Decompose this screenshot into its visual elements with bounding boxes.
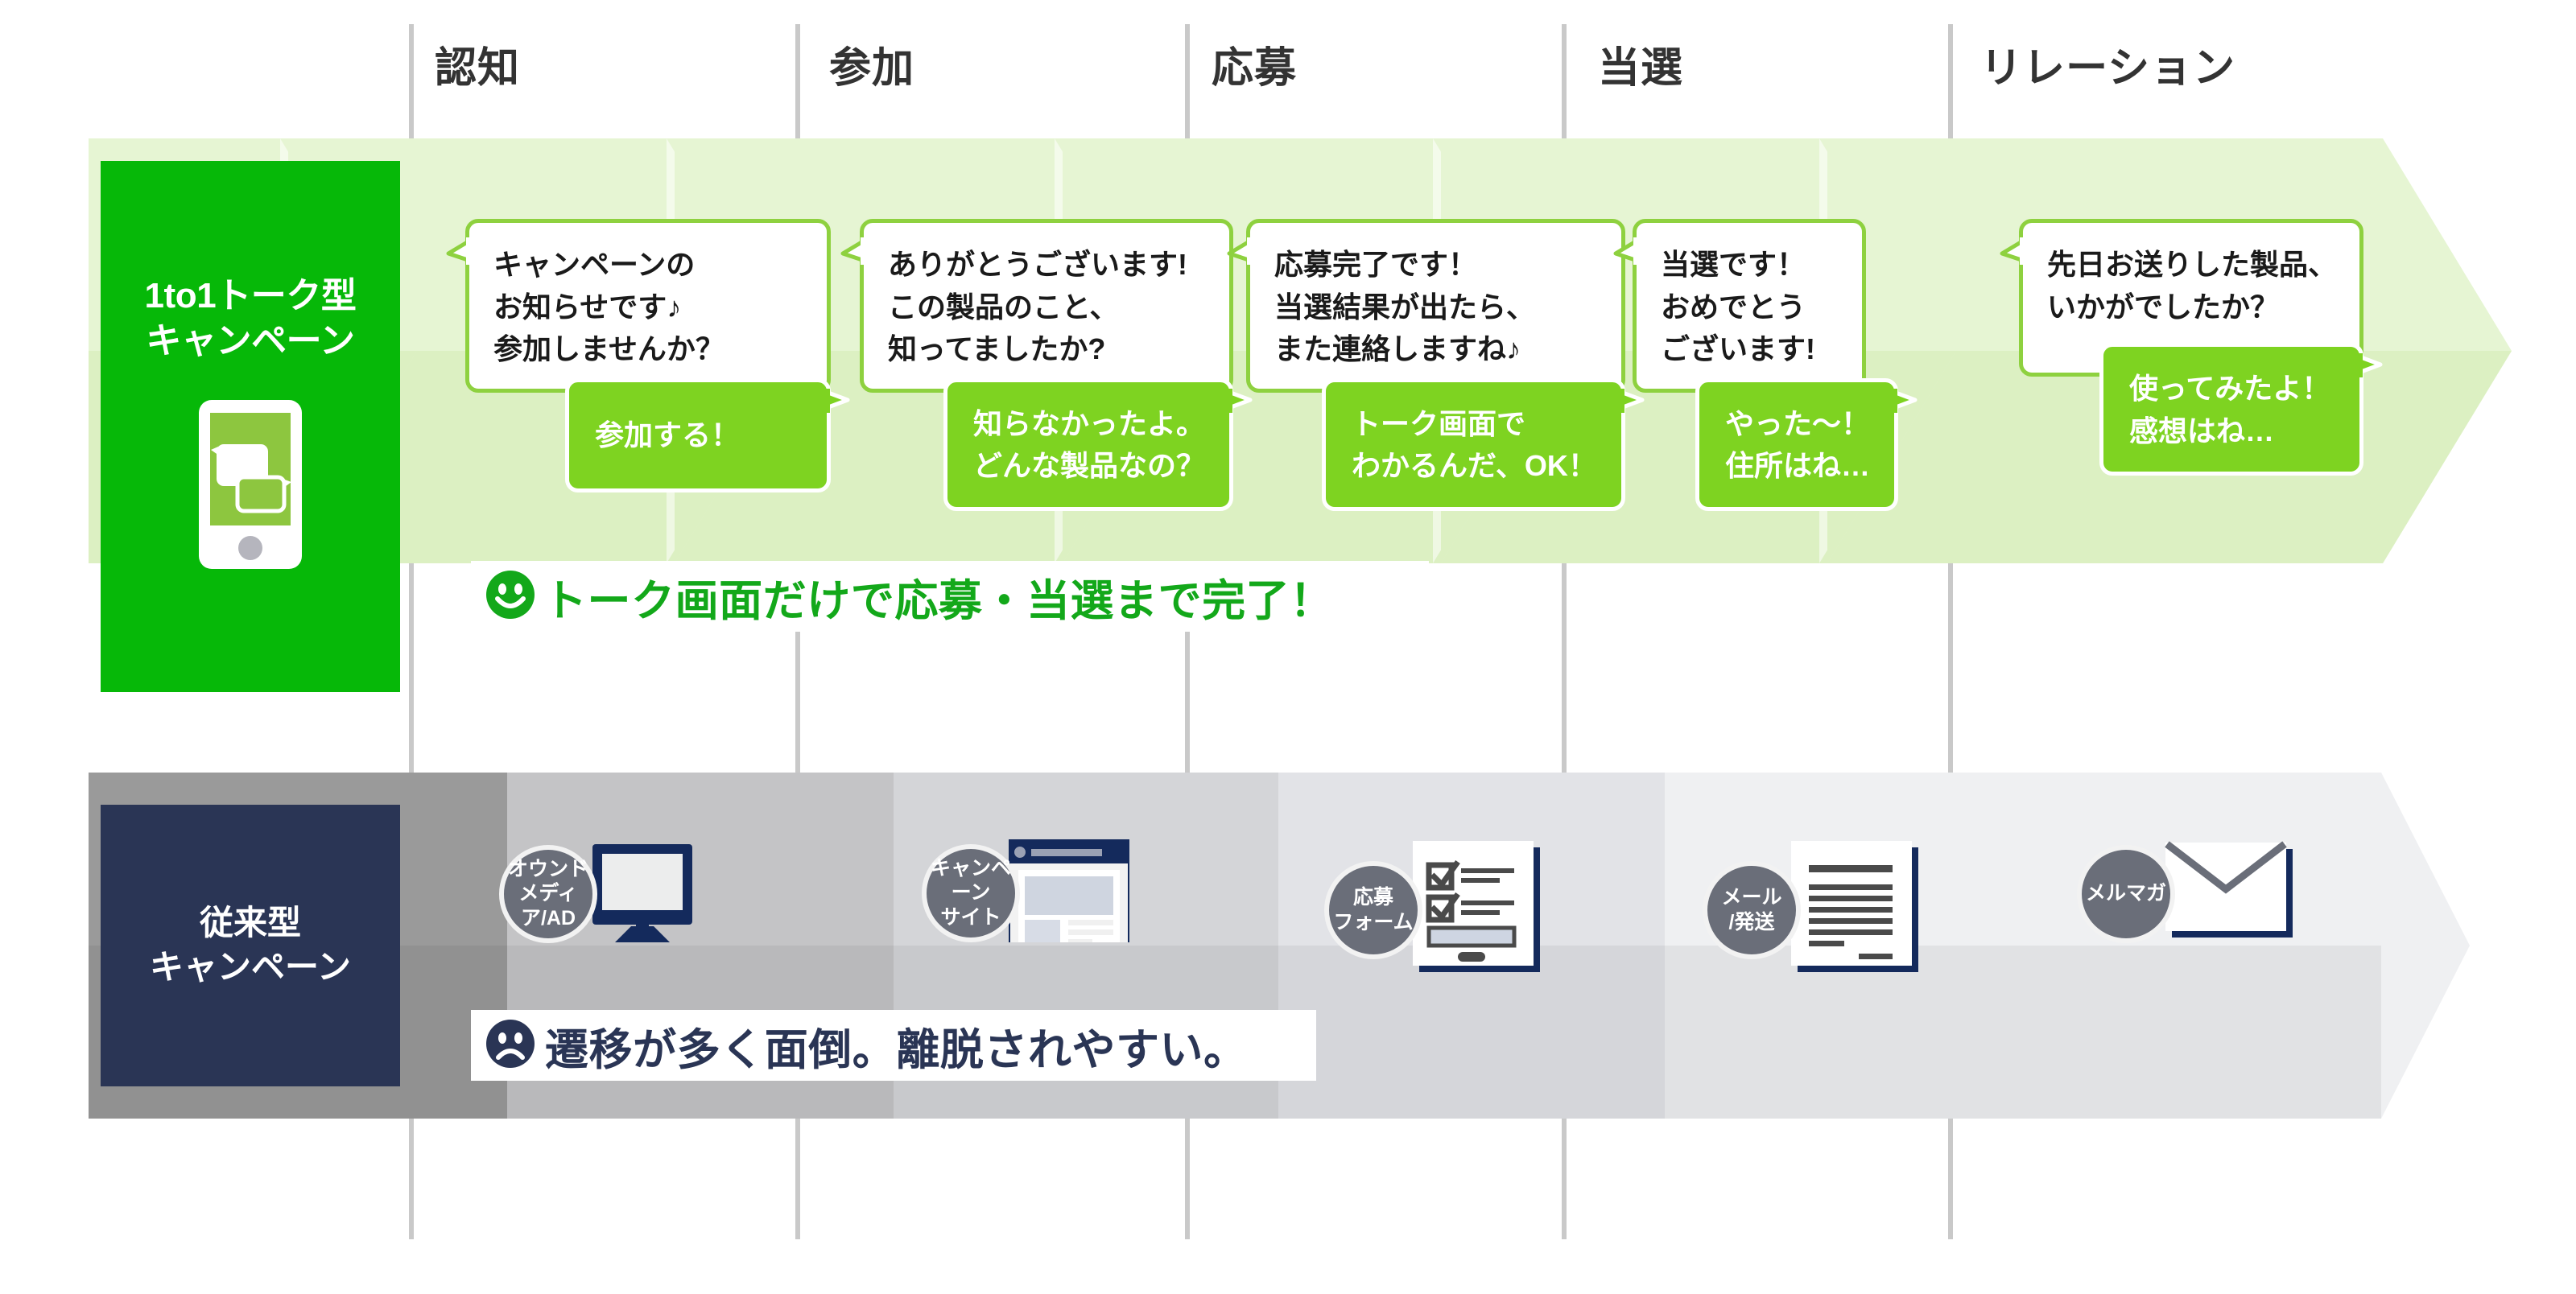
talk-campaign-title: 1to1トーク型 キャンペーン (145, 274, 357, 365)
legacy-campaign-problem-banner: 遷移が多く面倒。離脱されやすい。 (471, 1010, 1316, 1081)
sad-face-icon (485, 1019, 535, 1073)
phase-header-awareness: 認知 (435, 34, 520, 94)
smiley-face-icon (485, 570, 535, 624)
stage-circle-label: 応募 フォーム (1324, 861, 1422, 959)
user-reply-bubble: やった〜！ 住所はね… (1695, 378, 1898, 511)
stage-circle-label: オウンド メディア/AD (499, 845, 597, 943)
user-reply-bubble: トーク画面で わかるんだ、OK！ (1322, 378, 1625, 511)
bubble-tail-icon (1888, 389, 1918, 424)
conversation-group-5: 先日お送りした製品、 いかがでしたか？ 使ってみたよ！ 感想はね… (2019, 219, 2363, 476)
browser-window-icon (1009, 839, 1129, 946)
phase-header-relation: リレーション (1980, 34, 2235, 94)
user-reply-bubble: 参加する！ (565, 378, 831, 492)
brand-message-bubble: 当選です！ おめでとう ございます! (1633, 219, 1866, 393)
form-checklist-icon (1411, 839, 1548, 980)
brand-message-bubble: ありがとうございます! この製品のこと、 知ってましたか? (860, 219, 1233, 393)
phase-header-participate: 参加 (829, 34, 914, 94)
legacy-stage-5: メルマガ (2077, 839, 2309, 948)
segment-arrow-tip (2381, 773, 2470, 1119)
talk-campaign-label: 1to1トーク型 キャンペーン (101, 161, 400, 692)
stage-circle-label: メール /発送 (1703, 861, 1801, 959)
stage-circle-label: キャンペーン サイト (922, 844, 1020, 942)
envelope-icon (2164, 839, 2309, 948)
brand-message-bubble: キャンペーンの お知らせです♪ 参加しませんか？ (465, 219, 831, 393)
bubble-tail-icon (2353, 353, 2384, 389)
legacy-campaign-problem-text: 遷移が多く面倒。離脱されやすい。 (545, 1014, 1248, 1078)
legacy-stage-2: キャンペーン サイト (922, 839, 1129, 946)
smartphone-chat-icon (199, 400, 302, 573)
legacy-stage-3: 応募 フォーム (1324, 839, 1548, 980)
phase-header-win: 当選 (1598, 34, 1683, 94)
legacy-campaign-label: 従来型 キャンペーン (101, 805, 400, 1086)
bubble-tail-icon (1999, 237, 2028, 273)
user-reply-bubble: 使ってみたよ！ 感想はね… (2099, 343, 2363, 476)
legacy-stage-4: メール /発送 (1703, 839, 1926, 980)
phase-header-apply: 応募 (1212, 34, 1297, 94)
conversation-group-4: 当選です！ おめでとう ございます! やった〜！ 住所はね… (1633, 219, 1898, 511)
talk-campaign-benefit-banner: トーク画面だけで応募・当選まで完了！ (471, 561, 1429, 632)
stage-circle-label: メルマガ (2077, 845, 2175, 943)
brand-message-bubble: 応募完了です！ 当選結果が出たら、 また連絡しますね♪ (1246, 219, 1625, 393)
bubble-tail-icon (1226, 237, 1255, 273)
band-arrow-tip-lower (2383, 351, 2512, 563)
document-icon (1790, 839, 1926, 980)
monitor-icon (586, 839, 699, 948)
campaign-flow-diagram: 認知 参加 応募 当選 リレーション 1to1トーク型 キャンペーン (0, 0, 2576, 1294)
bubble-tail-icon (445, 237, 474, 273)
bubble-tail-icon (820, 389, 851, 424)
bubble-tail-icon (1612, 237, 1641, 273)
user-reply-bubble: 知らなかったよ。 どんな製品なの？ (943, 378, 1233, 511)
conversation-group-2: ありがとうございます! この製品のこと、 知ってましたか? 知らなかったよ。 ど… (860, 219, 1233, 511)
bubble-tail-icon (840, 237, 869, 273)
talk-campaign-benefit-text: トーク画面だけで応募・当選まで完了！ (543, 565, 1334, 628)
conversation-group-3: 応募完了です！ 当選結果が出たら、 また連絡しますね♪ トーク画面で わかるんだ… (1246, 219, 1625, 511)
legacy-stage-1: オウンド メディア/AD (499, 839, 699, 948)
conversation-group-1: キャンペーンの お知らせです♪ 参加しませんか？ 参加する！ (465, 219, 831, 492)
legacy-campaign-title: 従来型 キャンペーン (150, 901, 351, 989)
